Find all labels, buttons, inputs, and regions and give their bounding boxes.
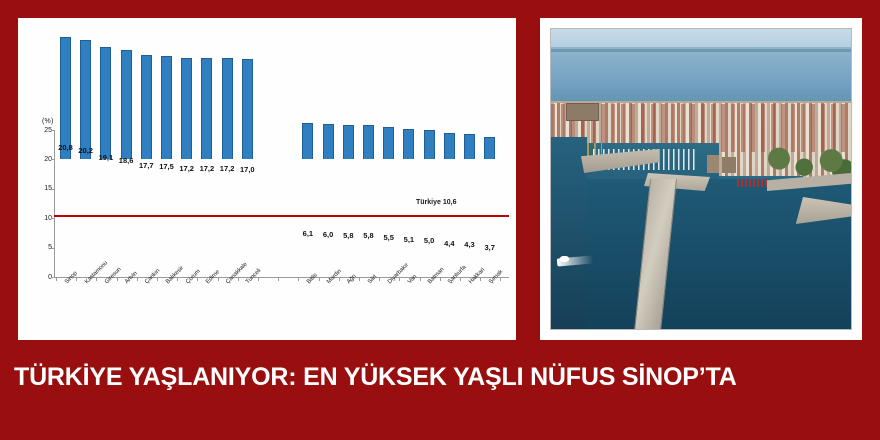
horizon-line	[551, 49, 851, 53]
x-tick-mark	[379, 277, 380, 281]
bar	[302, 123, 313, 159]
x-axis-category-label: Diyarbakır	[387, 262, 410, 285]
bar	[222, 58, 233, 159]
bar	[80, 40, 91, 159]
sea-left	[551, 137, 587, 329]
headline-text: TÜRKİYE YAŞLANIYOR: EN YÜKSEK YAŞLI NÜFU…	[14, 363, 737, 392]
bar	[141, 55, 152, 159]
photo-panel	[540, 18, 862, 340]
bar	[363, 125, 374, 159]
x-tick-mark	[480, 277, 481, 281]
bar	[343, 125, 354, 159]
chart-panel: (%) 0510152025 20,8Sinop20,2Kastamonu19,…	[18, 18, 516, 340]
x-tick-mark	[278, 277, 279, 281]
bar	[60, 37, 71, 159]
bar-value-label: 17,0	[234, 166, 260, 174]
x-tick-mark	[56, 277, 57, 281]
y-axis-line	[54, 130, 55, 278]
y-tick-label: 0	[36, 274, 52, 281]
y-tick-label: 20	[36, 156, 52, 163]
page-root: (%) 0510152025 20,8Sinop20,2Kastamonu19,…	[0, 0, 880, 440]
bar	[181, 58, 192, 159]
bar	[201, 58, 212, 159]
x-tick-mark	[238, 277, 239, 281]
y-axis-unit-label: (%)	[42, 118, 54, 125]
x-tick-mark	[157, 277, 158, 281]
fortress-tower-b	[722, 157, 736, 174]
x-axis-category-label: Şanlıurfa	[447, 265, 468, 286]
y-tick-mark	[51, 159, 55, 160]
x-tick-mark	[460, 277, 461, 281]
beach-umbrellas	[737, 179, 767, 187]
x-tick-mark	[319, 277, 320, 281]
x-tick-mark	[197, 277, 198, 281]
x-axis-category-label: Balıkesir	[165, 265, 185, 285]
x-axis-category-label: Van	[407, 274, 418, 285]
y-tick-mark	[51, 189, 55, 190]
bar	[100, 47, 111, 159]
y-tick-mark	[51, 130, 55, 131]
y-tick-label: 5	[36, 244, 52, 251]
y-tick-mark	[51, 277, 55, 278]
fortress-wall-left	[566, 103, 599, 121]
sea-far	[551, 47, 851, 92]
x-tick-mark	[500, 277, 501, 281]
x-tick-mark	[258, 277, 259, 281]
turkiye-average-line	[54, 215, 509, 217]
x-tick-mark	[137, 277, 138, 281]
x-tick-mark	[218, 277, 219, 281]
motorboat	[560, 256, 569, 262]
headline-bar: TÜRKİYE YAŞLANIYOR: EN YÜKSEK YAŞLI NÜFU…	[0, 352, 880, 402]
x-axis-category-label: Giresun	[104, 267, 123, 286]
sky	[551, 29, 851, 47]
photo-frame	[550, 28, 852, 330]
bar-chart: (%) 0510152025 20,8Sinop20,2Kastamonu19,…	[18, 18, 516, 340]
x-tick-mark	[177, 277, 178, 281]
fortress-tower-a	[707, 155, 719, 173]
bar-value-label: 3,7	[477, 244, 503, 252]
x-axis-category-label: Siirt	[367, 274, 378, 285]
x-tick-mark	[339, 277, 340, 281]
turkiye-average-label: Türkiye 10,6	[416, 199, 456, 206]
x-tick-mark	[96, 277, 97, 281]
x-axis-category-label: Bitlis	[306, 272, 319, 285]
bar	[444, 133, 455, 159]
x-axis-category-label: Ağrı	[346, 273, 358, 285]
bar	[484, 137, 495, 159]
x-tick-mark	[76, 277, 77, 281]
sinop-aerial-photo	[551, 29, 851, 329]
bar	[424, 130, 435, 159]
bar	[161, 56, 172, 159]
x-tick-mark	[117, 277, 118, 281]
y-tick-label: 25	[36, 127, 52, 134]
y-tick-mark	[51, 218, 55, 219]
bar	[383, 127, 394, 159]
bar	[403, 129, 414, 159]
x-tick-mark	[440, 277, 441, 281]
bar	[242, 59, 253, 159]
x-tick-mark	[359, 277, 360, 281]
bar	[323, 124, 334, 159]
x-tick-mark	[399, 277, 400, 281]
bar	[121, 50, 132, 159]
bar	[464, 134, 475, 159]
x-tick-mark	[298, 277, 299, 281]
y-tick-label: 10	[36, 215, 52, 222]
y-tick-mark	[51, 248, 55, 249]
x-tick-mark	[420, 277, 421, 281]
y-tick-label: 15	[36, 185, 52, 192]
